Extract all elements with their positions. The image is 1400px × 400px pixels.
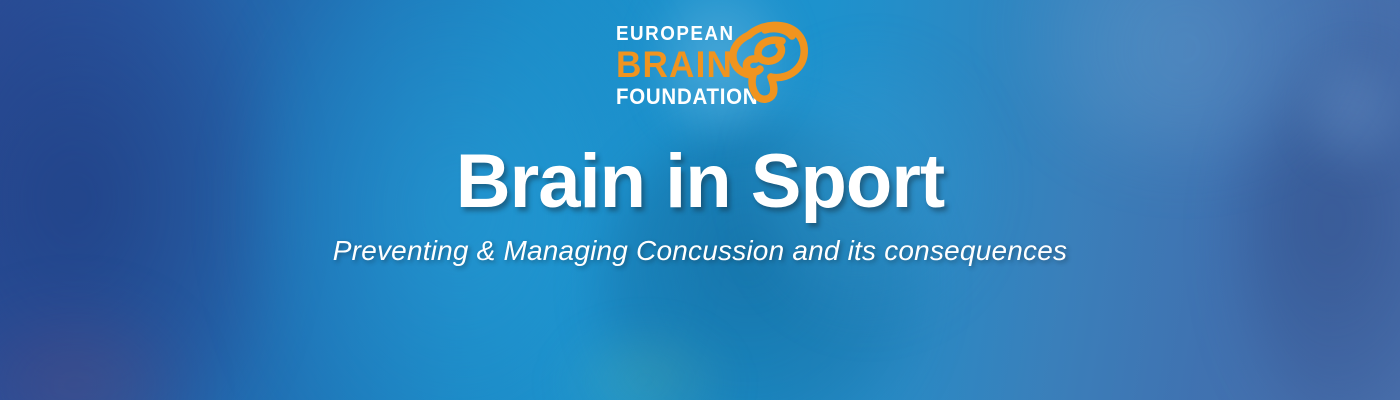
- page-title: Brain in Sport: [456, 142, 944, 222]
- brain-outline-icon: [718, 18, 810, 104]
- banner-content: EUROPEAN BRAIN FOUNDATION: [0, 0, 1400, 400]
- european-brain-foundation-logo: EUROPEAN BRAIN FOUNDATION: [600, 22, 800, 120]
- brain-in-sport-banner: EUROPEAN BRAIN FOUNDATION: [0, 0, 1400, 400]
- page-subtitle: Preventing & Managing Concussion and its…: [333, 234, 1067, 268]
